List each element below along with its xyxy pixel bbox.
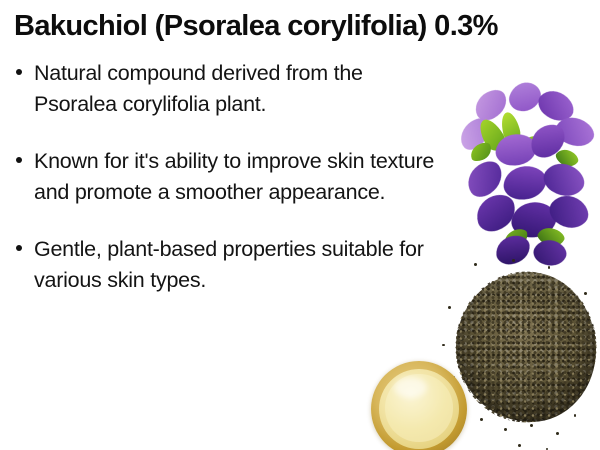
list-item-text: Natural compound derived from the Psoral… (34, 58, 442, 120)
bakuchiol-ingredient-slide: Bakuchiol (Psoralea corylifolia) 0.3% Na… (0, 0, 600, 450)
seed-mass (456, 272, 596, 422)
list-item-text: Gentle, plant-based properties suitable … (34, 234, 442, 296)
bullet-point-icon (12, 146, 34, 163)
page-title: Bakuchiol (Psoralea corylifolia) 0.3% (14, 8, 589, 44)
bullet-list: Natural compound derived from the Psoral… (12, 58, 442, 296)
bakuchiol-seed-pile-image (456, 272, 596, 422)
list-item-text: Known for it's ability to improve skin t… (34, 146, 442, 208)
bullet-point-icon (12, 58, 34, 75)
list-item: Known for it's ability to improve skin t… (12, 146, 442, 208)
list-item: Natural compound derived from the Psoral… (12, 58, 442, 120)
bullet-point-icon (12, 234, 34, 251)
bakuchiol-oil-bowl-image (371, 361, 467, 450)
seed-grain-texture (454, 270, 598, 424)
list-item: Gentle, plant-based properties suitable … (12, 234, 442, 296)
psoralea-flower-cluster-image (452, 78, 600, 278)
